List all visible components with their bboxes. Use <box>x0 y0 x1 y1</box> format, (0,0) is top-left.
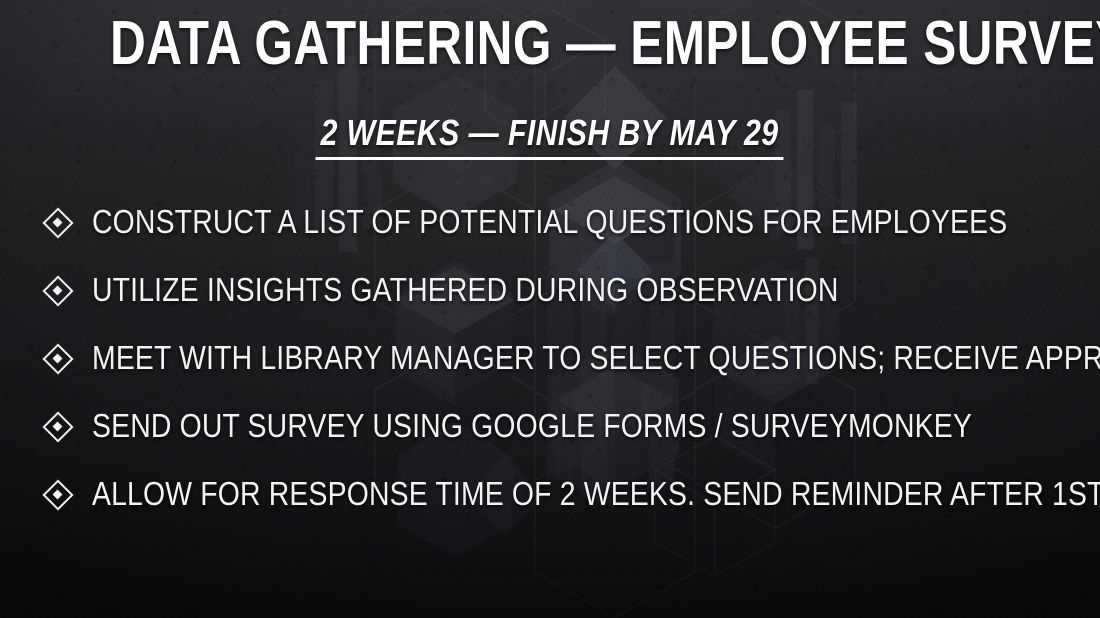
presentation-slide: DATA GATHERING — EMPLOYEE SURVEY 2 WEEKS… <box>0 0 1100 618</box>
list-item-label: CONSTRUCT A LIST OF POTENTIAL QUESTIONS … <box>92 204 1007 240</box>
list-item: UTILIZE INSIGHTS GATHERED DURING OBSERVA… <box>44 256 1076 324</box>
diamond-bullet-icon <box>44 413 70 439</box>
diamond-bullet-icon <box>44 481 70 507</box>
slide-content: DATA GATHERING — EMPLOYEE SURVEY 2 WEEKS… <box>0 0 1100 618</box>
list-item: CONSTRUCT A LIST OF POTENTIAL QUESTIONS … <box>44 188 1076 256</box>
list-item-label: MEET WITH LIBRARY MANAGER TO SELECT QUES… <box>92 340 1100 376</box>
list-item: ALLOW FOR RESPONSE TIME OF 2 WEEKS. SEND… <box>44 460 1076 528</box>
slide-subtitle-container: 2 WEEKS — FINISH BY MAY 29 <box>0 112 1100 160</box>
list-item: MEET WITH LIBRARY MANAGER TO SELECT QUES… <box>44 324 1076 392</box>
list-item-label: ALLOW FOR RESPONSE TIME OF 2 WEEKS. SEND… <box>92 476 1100 512</box>
diamond-bullet-icon <box>44 345 70 371</box>
bullet-list: CONSTRUCT A LIST OF POTENTIAL QUESTIONS … <box>44 188 1076 528</box>
diamond-bullet-icon <box>44 209 70 235</box>
diamond-bullet-icon <box>44 277 70 303</box>
list-item-label: UTILIZE INSIGHTS GATHERED DURING OBSERVA… <box>92 272 839 308</box>
slide-title: DATA GATHERING — EMPLOYEE SURVEY <box>110 10 990 78</box>
list-item: SEND OUT SURVEY USING GOOGLE FORMS / SUR… <box>44 392 1076 460</box>
list-item-label: SEND OUT SURVEY USING GOOGLE FORMS / SUR… <box>92 408 972 444</box>
slide-subtitle: 2 WEEKS — FINISH BY MAY 29 <box>316 112 784 160</box>
